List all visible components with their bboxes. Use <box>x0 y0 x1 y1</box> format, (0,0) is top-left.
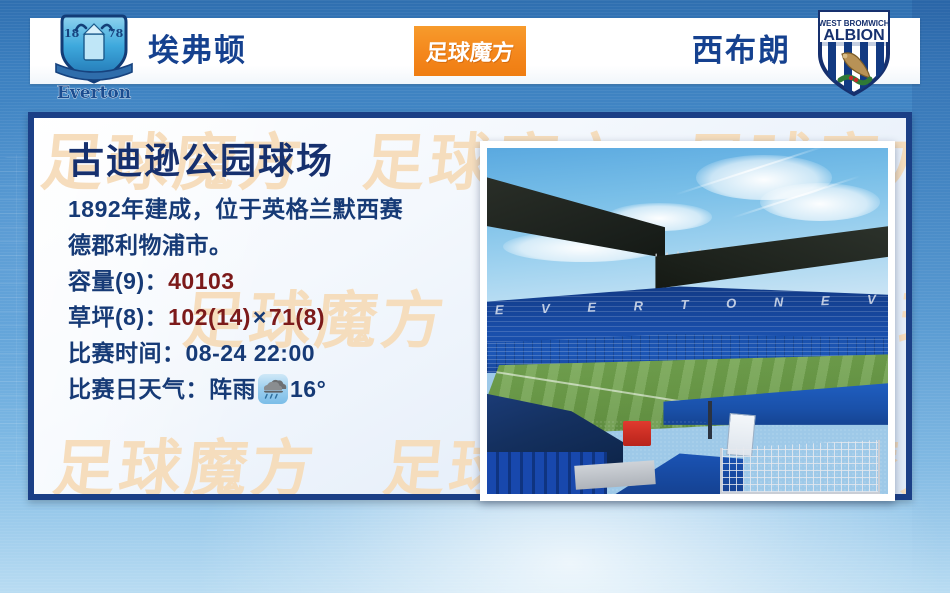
pitch-width-value: 71(8) <box>269 304 325 330</box>
photo-post <box>708 401 713 439</box>
stadium-info-card-page: 18 78 Everton 埃弗顿 足球魔方 西布朗 <box>0 0 950 593</box>
svg-text:Everton: Everton <box>57 83 131 100</box>
stadium-info-block: 古迪逊公园球场 1892年建成，位于英格兰默西赛 德郡利物浦市。 容量(9)：4… <box>68 140 488 407</box>
match-time-value: 08-24 22:00 <box>186 340 316 366</box>
multiply-symbol: × <box>251 304 269 330</box>
stadium-photo: E V E R T O N E V E R <box>487 148 888 494</box>
west-bromwich-albion-crest: WEST BROMWICH ALBION <box>806 6 902 100</box>
stadium-description-line-1: 1892年建成，位于英格兰默西赛 <box>68 191 488 227</box>
match-time-label: 比赛时间： <box>68 340 186 366</box>
weather-temperature: 16° <box>290 371 326 407</box>
pitch-label: 草坪(8)： <box>68 304 168 330</box>
brand-logo-label: 足球魔方 <box>425 35 515 67</box>
match-time-row: 比赛时间：08-24 22:00 <box>68 335 488 371</box>
stadium-photo-frame: E V E R T O N E V E R <box>480 141 895 501</box>
capacity-value: 40103 <box>168 268 234 294</box>
svg-text:18: 18 <box>64 27 80 40</box>
pitch-length-value: 102(14) <box>168 304 251 330</box>
stadium-title: 古迪逊公园球场 <box>68 140 488 181</box>
photo-red-equipment-box <box>623 421 651 445</box>
weather-row: 比赛日天气：阵雨 16° <box>68 371 488 407</box>
pitch-size-row: 草坪(8)：102(14)×71(8) <box>68 299 488 335</box>
shower-rain-icon <box>258 374 288 404</box>
home-team-name: 埃弗顿 <box>148 30 247 72</box>
stadium-description-line-2: 德郡利物浦市。 <box>68 227 488 263</box>
capacity-label: 容量(9)： <box>68 268 168 294</box>
everton-crest: 18 78 Everton <box>46 6 142 100</box>
weather-label: 比赛日天气： <box>68 371 209 407</box>
watermark-text: 足球魔方 <box>49 418 322 500</box>
svg-text:ALBION: ALBION <box>823 27 884 44</box>
match-header: 18 78 Everton 埃弗顿 足球魔方 西布朗 <box>0 0 950 104</box>
svg-text:78: 78 <box>108 27 124 40</box>
away-team-name: 西布朗 <box>692 30 791 72</box>
brand-logo[interactable]: 足球魔方 <box>414 26 526 76</box>
weather-condition: 阵雨 <box>209 371 256 407</box>
capacity-row: 容量(9)：40103 <box>68 263 488 299</box>
